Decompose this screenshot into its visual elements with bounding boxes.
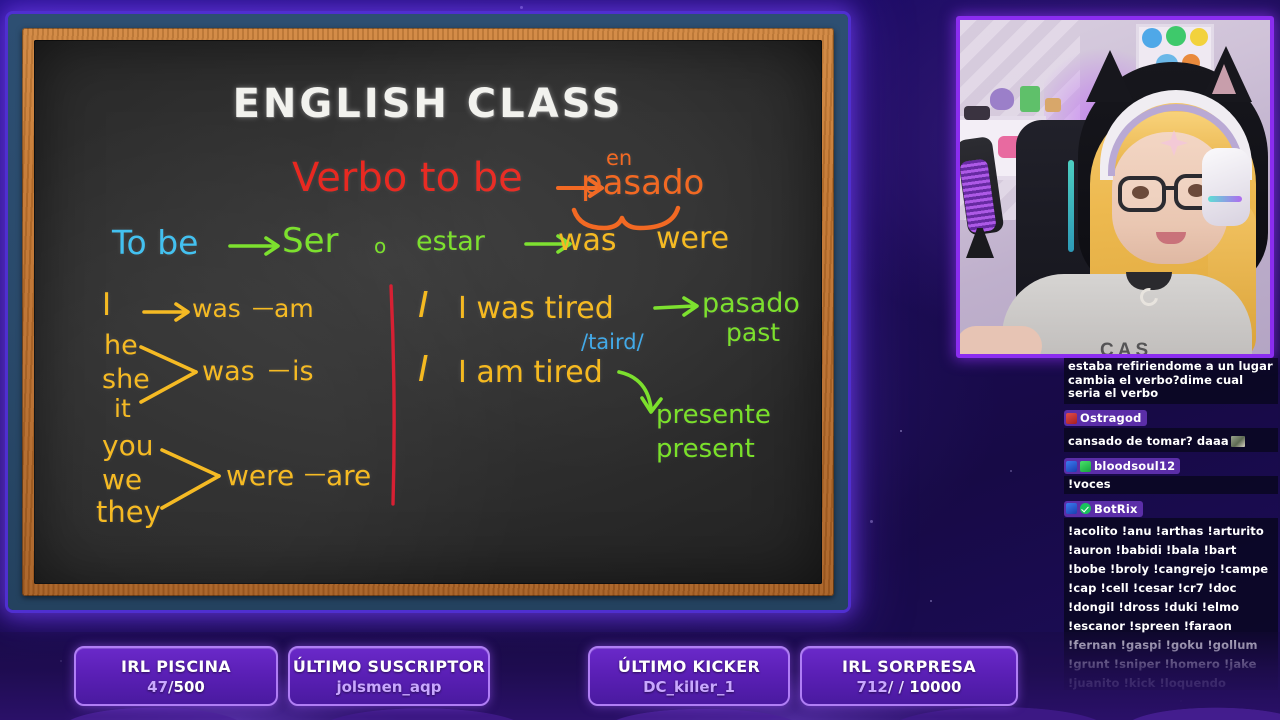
goal-ultimo-kicker[interactable]: ÚLTIMO KICKER DC_killer_1 — [588, 646, 790, 706]
goal-ultimo-suscriptor[interactable]: ÚLTIMO SUSCRIPTOR jolsmen_aqp — [288, 646, 490, 706]
shelf-item-dark — [964, 106, 990, 120]
goal-current: 712 — [857, 678, 888, 696]
chair-led-strip — [1068, 160, 1074, 252]
bottom-goal-bar: IRL PISCINA 47/500 ÚLTIMO SUSCRIPTOR jol… — [0, 632, 1280, 720]
pronoun-you: you — [102, 432, 153, 460]
left-row-2-past: were — [226, 462, 294, 490]
webcam-scene: CAS — [960, 20, 1270, 354]
chat-username[interactable]: BotRix — [1094, 502, 1138, 516]
left-row-0-past: was — [192, 296, 241, 321]
goal-target: 10000 — [909, 678, 961, 696]
left-row-2-present: are — [326, 462, 371, 490]
chat-message: bloodsoul12 !voces — [1064, 457, 1278, 495]
pronunciation-tired: /taird/ — [581, 332, 644, 353]
goal-title: ÚLTIMO SUSCRIPTOR — [293, 657, 485, 676]
blackboard-wooden-frame: ENGLISH CLASS Verbo to be en pasado To b… — [22, 28, 834, 596]
pronoun-i: I — [102, 290, 111, 321]
plush-yellow — [1190, 28, 1208, 46]
glasses-bridge — [1164, 186, 1176, 190]
goal-value: 712/ / 10000 — [857, 678, 962, 696]
left-row-1-present: is — [292, 358, 314, 385]
blackboard-panel: ENGLISH CLASS Verbo to be en pasado To b… — [8, 14, 848, 610]
chat-bubble: !voces — [1064, 476, 1278, 495]
chat-message: Ostragod cansado de tomar? daaa — [1064, 409, 1278, 452]
goal-title: ÚLTIMO KICKER — [618, 657, 760, 676]
goal-value: jolsmen_aqp — [336, 678, 441, 696]
moderator-badge-icon — [1066, 461, 1077, 472]
headset-earcup — [1202, 148, 1250, 226]
pronoun-we: we — [102, 466, 142, 494]
left-row-0-present: am — [274, 296, 314, 321]
goal-target: jolsmen_aqp — [336, 678, 441, 696]
goal-target: 500 — [174, 678, 205, 696]
pronoun-she: she — [102, 366, 150, 393]
board-heading-tense: pasado — [581, 166, 704, 200]
left-row-2-dash: — — [304, 464, 326, 486]
verified-badge-icon — [1080, 503, 1091, 514]
pronoun-it: it — [114, 396, 131, 421]
blackboard-surface: ENGLISH CLASS Verbo to be en pasado To b… — [34, 40, 822, 584]
plush-blue — [1142, 28, 1162, 48]
chat-username-chip[interactable]: Ostragod — [1064, 410, 1147, 426]
board-title: ENGLISH CLASS — [34, 84, 822, 124]
chat-username-chip[interactable]: BotRix — [1064, 501, 1143, 517]
goal-target: DC_killer_1 — [643, 678, 735, 696]
board-were: were — [656, 224, 729, 254]
right-past-sentence: I was tired — [458, 294, 614, 324]
goal-irl-piscina[interactable]: IRL PISCINA 47/500 — [74, 646, 278, 706]
pronoun-he: he — [104, 332, 138, 359]
camouflage-emote-icon — [1231, 436, 1245, 447]
plush-creeper — [1020, 86, 1040, 112]
chat-message-body: !voces — [1068, 478, 1274, 492]
chat-bubble: estaba refiriendome a un lugar cambia el… — [1064, 358, 1278, 404]
goal-irl-sorpresa[interactable]: IRL SORPRESA 712/ / 10000 — [800, 646, 1018, 706]
chat-username-chip[interactable]: bloodsoul12 — [1064, 458, 1180, 474]
board-was: was — [558, 226, 617, 256]
chat-username[interactable]: Ostragod — [1080, 411, 1142, 425]
headset-rgb — [1208, 196, 1242, 202]
stream-overlay-stage: ENGLISH CLASS Verbo to be en pasado To b… — [0, 0, 1280, 720]
board-estar: estar — [416, 228, 485, 255]
right-past-label-en: past — [726, 320, 780, 345]
plush-green — [1166, 26, 1186, 46]
right-present-sentence: I am tired — [458, 358, 603, 388]
goal-title: IRL PISCINA — [121, 657, 231, 676]
eye-left — [1132, 186, 1149, 199]
plush-small — [1045, 98, 1061, 112]
left-row-0-dash: — — [252, 298, 274, 320]
chat-username[interactable]: bloodsoul12 — [1094, 459, 1175, 473]
streamer-webcam[interactable]: CAS — [956, 16, 1274, 358]
goal-separator: / / — [888, 678, 904, 696]
right-present-label-en: present — [656, 436, 755, 462]
gift-sub-badge-icon — [1080, 461, 1091, 472]
chat-message: estaba refiriendome a un lugar cambia el… — [1064, 358, 1278, 404]
left-row-1-dash: — — [268, 360, 290, 382]
pronoun-they: they — [96, 498, 161, 527]
sweater-text: CAS — [1100, 340, 1180, 358]
goal-title: IRL SORPRESA — [842, 657, 976, 676]
hand — [956, 326, 1042, 358]
goal-value: DC_killer_1 — [643, 678, 735, 696]
board-to-be: To be — [112, 226, 198, 259]
board-ser: Ser — [282, 224, 338, 258]
left-row-1-past: was — [202, 358, 255, 385]
right-past-label-es: pasado — [702, 290, 800, 317]
right-pronoun-past: I — [418, 288, 429, 324]
bot-badge-icon — [1066, 503, 1077, 514]
board-o: o — [374, 236, 386, 256]
plush-gengar — [990, 88, 1014, 110]
goal-value: 47/500 — [147, 678, 205, 696]
goal-current: 47 — [147, 678, 168, 696]
board-heading-verb: Verbo to be — [292, 158, 523, 198]
chat-bubble: cansado de tomar? daaa — [1064, 428, 1278, 452]
right-present-label-es: presente — [656, 402, 771, 428]
right-pronoun-present: I — [418, 352, 429, 388]
moderator-badge-icon — [1066, 413, 1077, 424]
chat-message-body: cansado de tomar? daaa — [1068, 434, 1229, 448]
chat-message-body: estaba refiriendome a un lugar cambia el… — [1068, 360, 1274, 401]
